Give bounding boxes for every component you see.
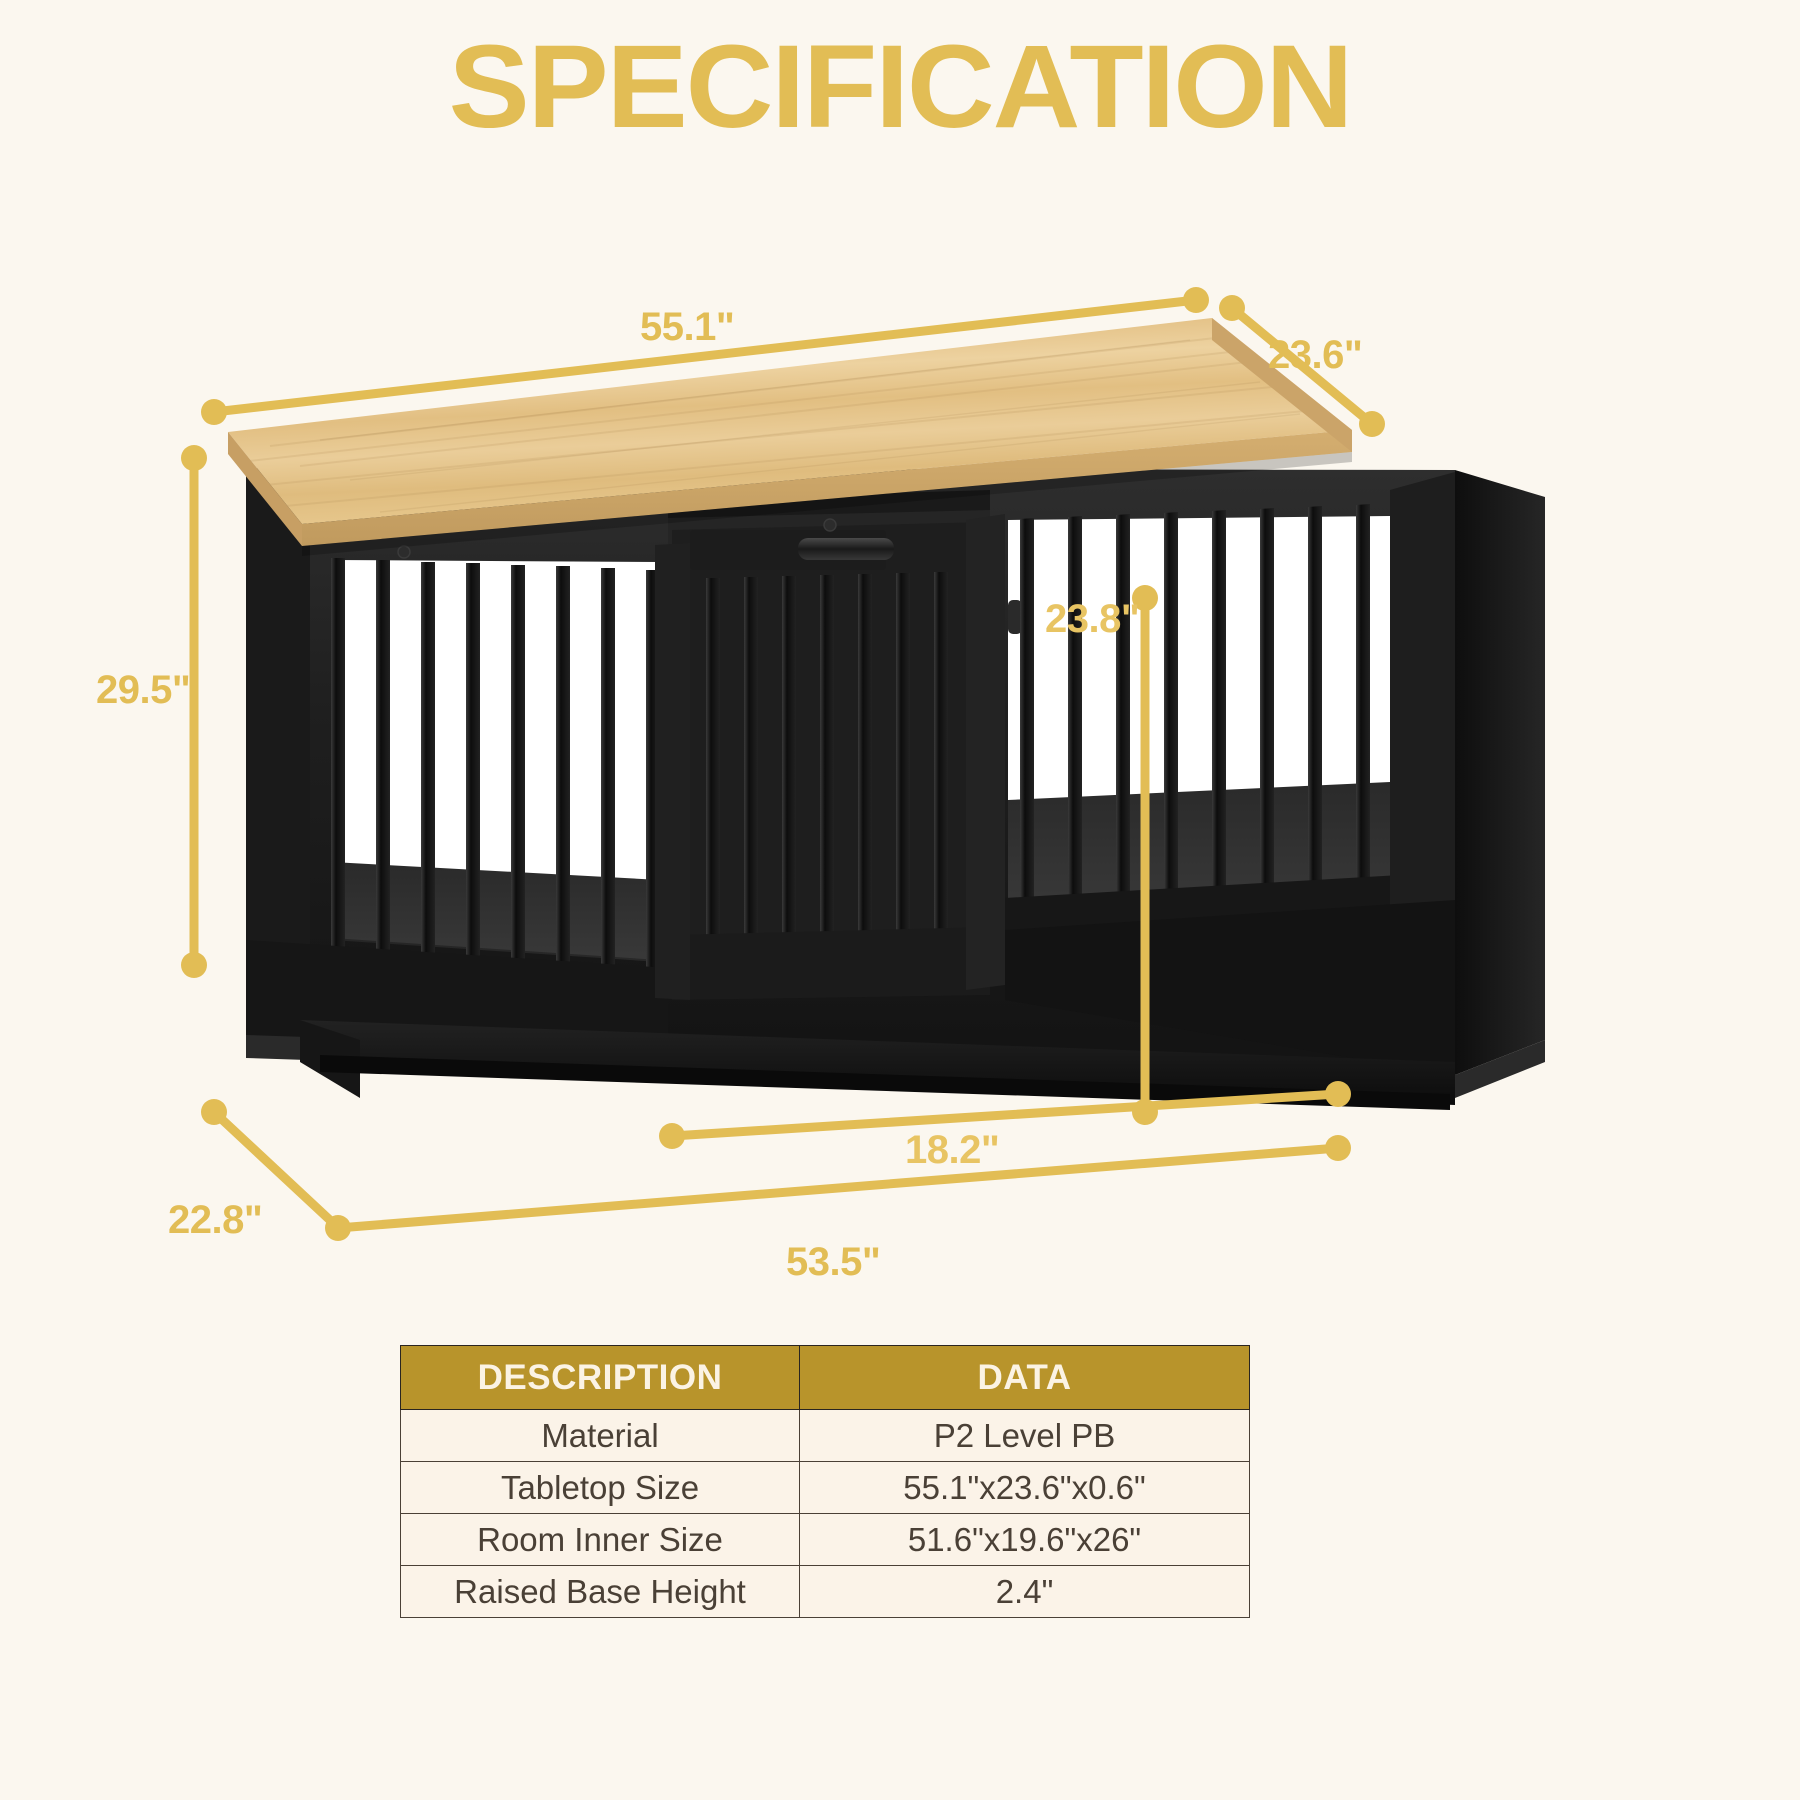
crate-right-side-panel [1455,470,1545,1075]
cell-description: Room Inner Size [401,1514,800,1566]
table-row: Room Inner Size51.6"x19.6"x26" [401,1514,1250,1566]
table-row: Raised Base Height2.4" [401,1566,1250,1618]
column-header-data: DATA [800,1346,1250,1410]
dimension-label-base-depth: 22.8" [168,1198,262,1243]
cell-description: Tabletop Size [401,1462,800,1514]
cell-description: Material [401,1410,800,1462]
table-header: DESCRIPTION DATA [401,1346,1250,1410]
table-body: MaterialP2 Level PBTabletop Size55.1"x23… [401,1410,1250,1618]
dimension-label-door-width: 18.2" [905,1128,999,1173]
cell-data: P2 Level PB [800,1410,1250,1462]
table-row: MaterialP2 Level PB [401,1410,1250,1462]
dimension-label-overall-height: 29.5" [96,668,190,713]
door-handle [798,538,894,560]
dimension-line-base-width [338,1148,1338,1228]
cell-data: 2.4" [800,1566,1250,1618]
dimension-line-door-width [672,1094,1338,1136]
specification-table: DESCRIPTION DATA MaterialP2 Level PBTabl… [400,1345,1250,1618]
cell-data: 51.6"x19.6"x26" [800,1514,1250,1566]
dimension-label-base-width: 53.5" [786,1240,880,1285]
table-row: Tabletop Size55.1"x23.6"x0.6" [401,1462,1250,1514]
dimension-label-overall-depth: 23.6" [1268,333,1362,378]
table-header-row: DESCRIPTION DATA [401,1346,1250,1410]
column-header-description: DESCRIPTION [401,1346,800,1410]
dimension-label-overall-width: 55.1" [640,305,734,350]
cell-description: Raised Base Height [401,1566,800,1618]
cell-data: 55.1"x23.6"x0.6" [800,1462,1250,1514]
crate-bars-left [286,556,660,975]
specification-page: SPECIFICATION [0,0,1800,1800]
product-illustration [0,0,1800,1290]
dimension-label-door-height: 23.8" [1045,597,1139,642]
